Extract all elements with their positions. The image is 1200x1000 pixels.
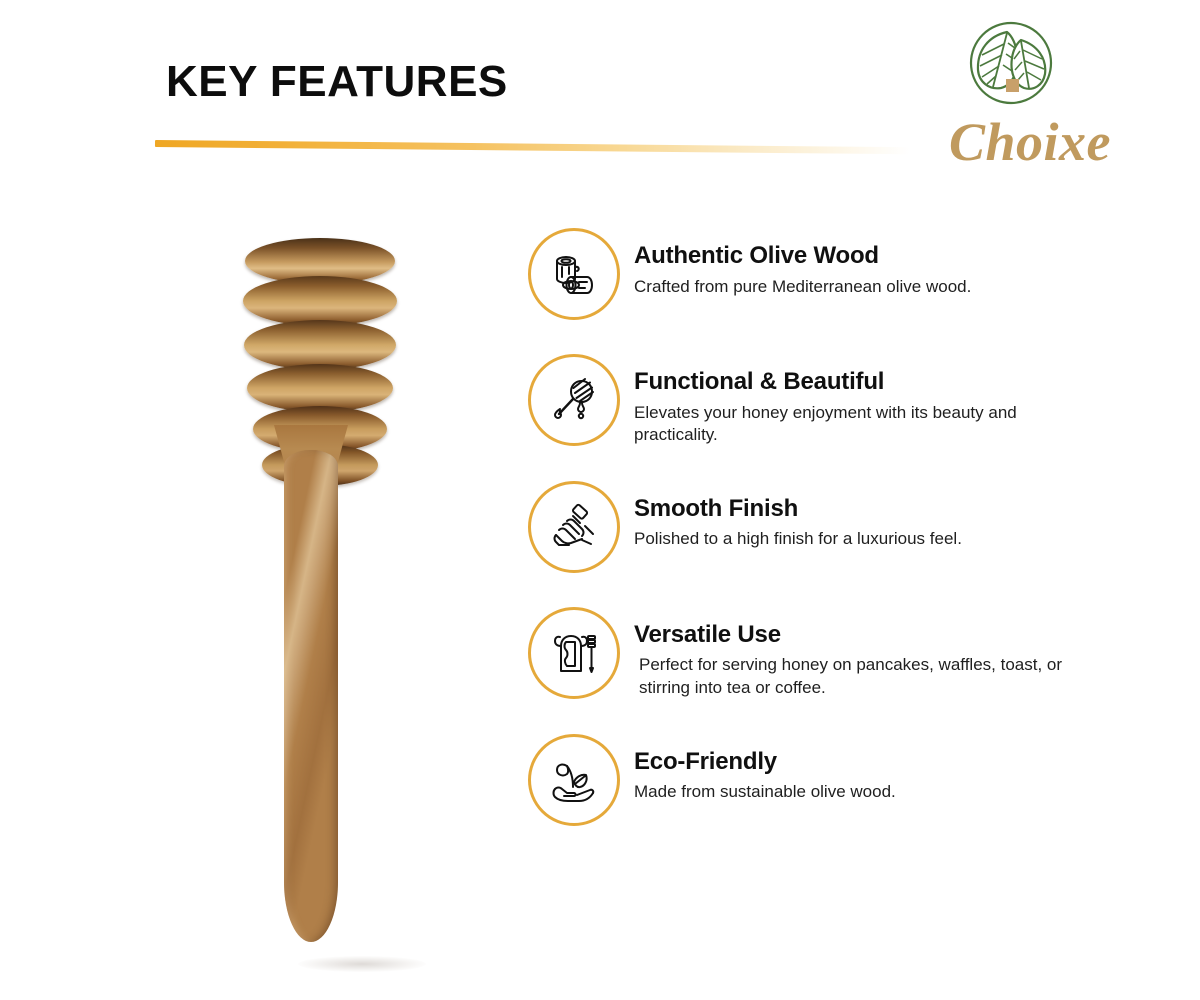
feature-title: Versatile Use bbox=[634, 621, 1064, 649]
olive-wood-honey-dipper-illustration bbox=[240, 220, 400, 960]
product-drop-shadow bbox=[298, 956, 426, 972]
honey-dipper-icon bbox=[528, 354, 620, 446]
feature-item: Authentic Olive Wood Crafted from pure M… bbox=[528, 240, 1128, 320]
feature-item: Eco-Friendly Made from sustainable olive… bbox=[528, 746, 1128, 826]
feature-title: Eco-Friendly bbox=[634, 748, 896, 776]
hand-polishing-icon bbox=[528, 481, 620, 573]
feature-title: Authentic Olive Wood bbox=[634, 242, 971, 270]
page-title: KEY FEATURES bbox=[166, 60, 508, 104]
feature-description: Perfect for serving honey on pancakes, w… bbox=[634, 654, 1064, 699]
feature-text-block: Authentic Olive Wood Crafted from pure M… bbox=[634, 240, 971, 298]
wood-logs-icon bbox=[528, 228, 620, 320]
feature-text-block: Functional & Beautiful Elevates your hon… bbox=[634, 366, 1064, 447]
feature-text-block: Eco-Friendly Made from sustainable olive… bbox=[634, 746, 896, 804]
feature-item: Versatile Use Perfect for serving honey … bbox=[528, 619, 1128, 700]
features-list: Authentic Olive Wood Crafted from pure M… bbox=[528, 240, 1128, 826]
dipper-disc bbox=[244, 320, 396, 370]
brand-wordmark: Choixe bbox=[930, 114, 1130, 171]
dipper-disc bbox=[243, 276, 397, 326]
title-underline-rule bbox=[155, 140, 910, 154]
feature-description: Crafted from pure Mediterranean olive wo… bbox=[634, 276, 971, 299]
dipper-disc bbox=[247, 364, 393, 412]
two-leaves-in-circle-icon bbox=[963, 18, 1059, 114]
feature-title: Functional & Beautiful bbox=[634, 368, 1064, 396]
feature-item: Smooth Finish Polished to a high finish … bbox=[528, 493, 1128, 573]
feature-description: Elevates your honey enjoyment with its b… bbox=[634, 402, 1064, 447]
brand-logo: Choixe bbox=[930, 18, 1130, 183]
hand-holding-sprout-icon bbox=[528, 734, 620, 826]
feature-text-block: Smooth Finish Polished to a high finish … bbox=[634, 493, 962, 551]
feature-text-block: Versatile Use Perfect for serving honey … bbox=[634, 619, 1064, 700]
infographic-page: KEY FEATURES Choixe bbox=[0, 0, 1200, 1000]
toast-with-dipper-icon bbox=[528, 607, 620, 699]
feature-title: Smooth Finish bbox=[634, 495, 962, 523]
feature-description: Polished to a high finish for a luxuriou… bbox=[634, 528, 962, 551]
feature-description: Made from sustainable olive wood. bbox=[634, 781, 896, 804]
dipper-handle bbox=[284, 450, 338, 942]
feature-item: Functional & Beautiful Elevates your hon… bbox=[528, 366, 1128, 447]
product-image bbox=[150, 200, 480, 960]
